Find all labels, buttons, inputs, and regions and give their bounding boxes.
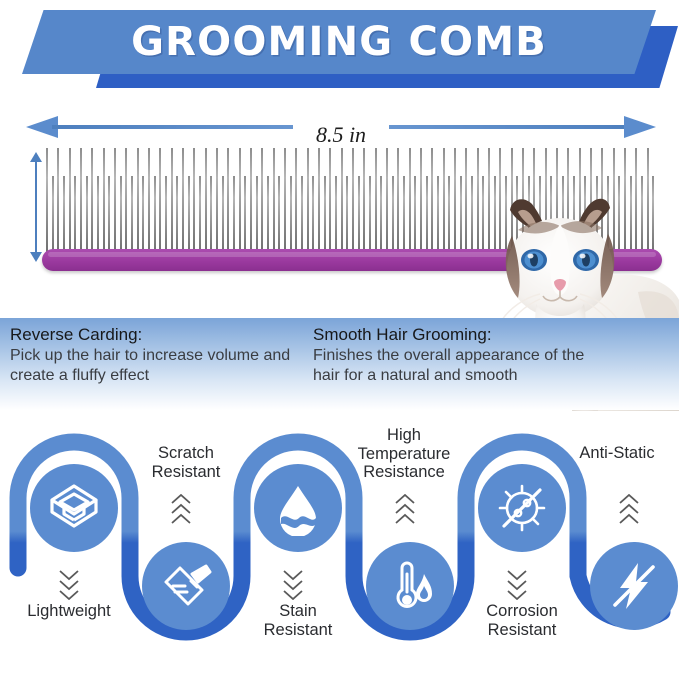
comb-tooth: [358, 176, 360, 254]
comb-tooth: [301, 176, 303, 254]
comb-tooth: [46, 148, 48, 254]
comb-tooth: [210, 176, 212, 254]
comb-tooth: [108, 176, 110, 254]
comb-tooth: [216, 148, 218, 254]
comb-tooth: [114, 148, 116, 254]
comb-tooth: [290, 176, 292, 254]
comb-tooth: [284, 148, 286, 254]
title-banner: GROOMING COMB: [0, 4, 679, 90]
scratch-shield-icon: [158, 558, 214, 614]
comb-tooth: [380, 176, 382, 254]
chevron-up-triple-icon-2: [168, 494, 194, 528]
comb-tooth: [335, 176, 337, 254]
comb-tooth: [278, 176, 280, 254]
comb-tooth: [460, 176, 462, 254]
comb-tooth: [159, 148, 161, 254]
chevron-up-triple-icon-6: [616, 494, 642, 528]
width-dimension-arrow: 8.5 in: [26, 114, 656, 140]
comb-tooth: [244, 176, 246, 254]
comb-tooth: [205, 148, 207, 254]
feature-label-scratch: Scratch Resistant: [126, 444, 246, 481]
usage-right-title: Smooth Hair Grooming:: [313, 324, 613, 345]
cube-box-icon: [46, 480, 102, 536]
feature-icon-high-temperature[interactable]: [366, 542, 454, 630]
arrow-bar-vertical: [35, 158, 37, 256]
comb-tooth: [318, 148, 320, 254]
arrow-head-down-icon: [30, 252, 42, 262]
comb-tooth: [131, 176, 133, 254]
page-title: GROOMING COMB: [22, 10, 656, 74]
usage-band: Reverse Carding: Pick up the hair to inc…: [0, 318, 679, 410]
comb-tooth: [193, 148, 195, 254]
water-droplet-icon: [271, 480, 325, 536]
feature-icon-scratch[interactable]: [142, 542, 230, 630]
comb-tooth: [103, 148, 105, 254]
usage-right: Smooth Hair Grooming: Finishes the overa…: [313, 324, 613, 385]
comb-tooth: [86, 176, 88, 254]
comb-tooth: [443, 148, 445, 254]
width-label: 8.5 in: [293, 122, 389, 148]
comb-tooth: [477, 148, 479, 254]
feature-icon-corrosion[interactable]: [478, 464, 566, 552]
comb-tooth: [369, 176, 371, 254]
comb-tooth: [295, 148, 297, 254]
comb-tooth: [171, 148, 173, 254]
comb-tooth: [199, 176, 201, 254]
comb-tooth: [233, 176, 235, 254]
comb-tooth: [341, 148, 343, 254]
comb-tooth: [80, 148, 82, 254]
feature-label-corrosion: Corrosion Resistant: [452, 602, 592, 639]
infographic-root: GROOMING COMB 8.5 in 1.2 in: [0, 0, 679, 679]
germ-crossed-icon: [494, 480, 550, 536]
comb-tooth: [414, 176, 416, 254]
comb-tooth: [312, 176, 314, 254]
comb-tooth: [182, 148, 184, 254]
comb-tooth: [261, 148, 263, 254]
comb-tooth: [120, 176, 122, 254]
comb-tooth: [57, 148, 59, 254]
comb-tooth: [222, 176, 224, 254]
comb-tooth: [397, 148, 399, 254]
comb-tooth: [403, 176, 405, 254]
chevron-down-triple-icon-5: [504, 566, 530, 600]
feature-label-stain: Stain Resistant: [238, 602, 358, 639]
comb-tooth: [324, 176, 326, 254]
usage-left-body: Pick up the hair to increase volume and …: [10, 346, 310, 385]
feature-icon-stain[interactable]: [254, 464, 342, 552]
comb-tooth: [74, 176, 76, 254]
comb-tooth: [63, 176, 65, 254]
comb-tooth: [165, 176, 167, 254]
lightning-crossed-icon: [606, 558, 662, 614]
comb-tooth: [420, 148, 422, 254]
comb-tooth: [154, 176, 156, 254]
comb-tooth: [267, 176, 269, 254]
comb-tooth: [352, 148, 354, 254]
comb-tooth: [91, 148, 93, 254]
comb-tooth: [454, 148, 456, 254]
comb-tooth: [250, 148, 252, 254]
thermometer-flame-icon: [382, 558, 438, 614]
comb-tooth: [431, 148, 433, 254]
comb-tooth: [176, 176, 178, 254]
usage-right-body: Finishes the overall appearance of the h…: [313, 346, 613, 385]
feature-label-anti-static: Anti-Static: [556, 444, 678, 463]
height-dimension-arrow: [29, 152, 43, 262]
comb-tooth: [482, 176, 484, 254]
comb-tooth: [307, 148, 309, 254]
comb-tooth: [465, 148, 467, 254]
usage-left: Reverse Carding: Pick up the hair to inc…: [10, 324, 310, 385]
comb-tooth: [137, 148, 139, 254]
comb-tooth: [386, 148, 388, 254]
chevron-up-triple-icon-4: [392, 494, 418, 528]
feature-icon-lightweight[interactable]: [30, 464, 118, 552]
comb-tooth: [256, 176, 258, 254]
comb-tooth: [471, 176, 473, 254]
comb-tooth: [392, 176, 394, 254]
comb-tooth: [273, 148, 275, 254]
arrow-head-right-icon: [624, 116, 656, 138]
comb-tooth: [363, 148, 365, 254]
feature-label-lightweight: Lightweight: [4, 602, 134, 621]
comb-tooth: [69, 148, 71, 254]
comb-tooth: [437, 176, 439, 254]
comb-tooth: [346, 176, 348, 254]
comb-tooth: [448, 176, 450, 254]
comb-tooth: [142, 176, 144, 254]
comb-tooth: [426, 176, 428, 254]
chevron-down-triple-icon-3: [280, 566, 306, 600]
comb-tooth: [97, 176, 99, 254]
comb-tooth: [125, 148, 127, 254]
feature-icon-anti-static[interactable]: [590, 542, 678, 630]
comb-tooth: [409, 148, 411, 254]
comb-tooth: [227, 148, 229, 254]
comb-tooth: [148, 148, 150, 254]
chevron-down-triple-icon-1: [56, 566, 82, 600]
comb-tooth: [239, 148, 241, 254]
usage-left-title: Reverse Carding:: [10, 324, 310, 345]
comb-tooth: [329, 148, 331, 254]
comb-tooth: [188, 176, 190, 254]
feature-label-high-temperature: High Temperature Resistance: [336, 426, 472, 482]
feature-ribbon-section: Lightweight Scratch Resistant: [0, 416, 679, 671]
comb-tooth: [375, 148, 377, 254]
comb-tooth: [52, 176, 54, 254]
